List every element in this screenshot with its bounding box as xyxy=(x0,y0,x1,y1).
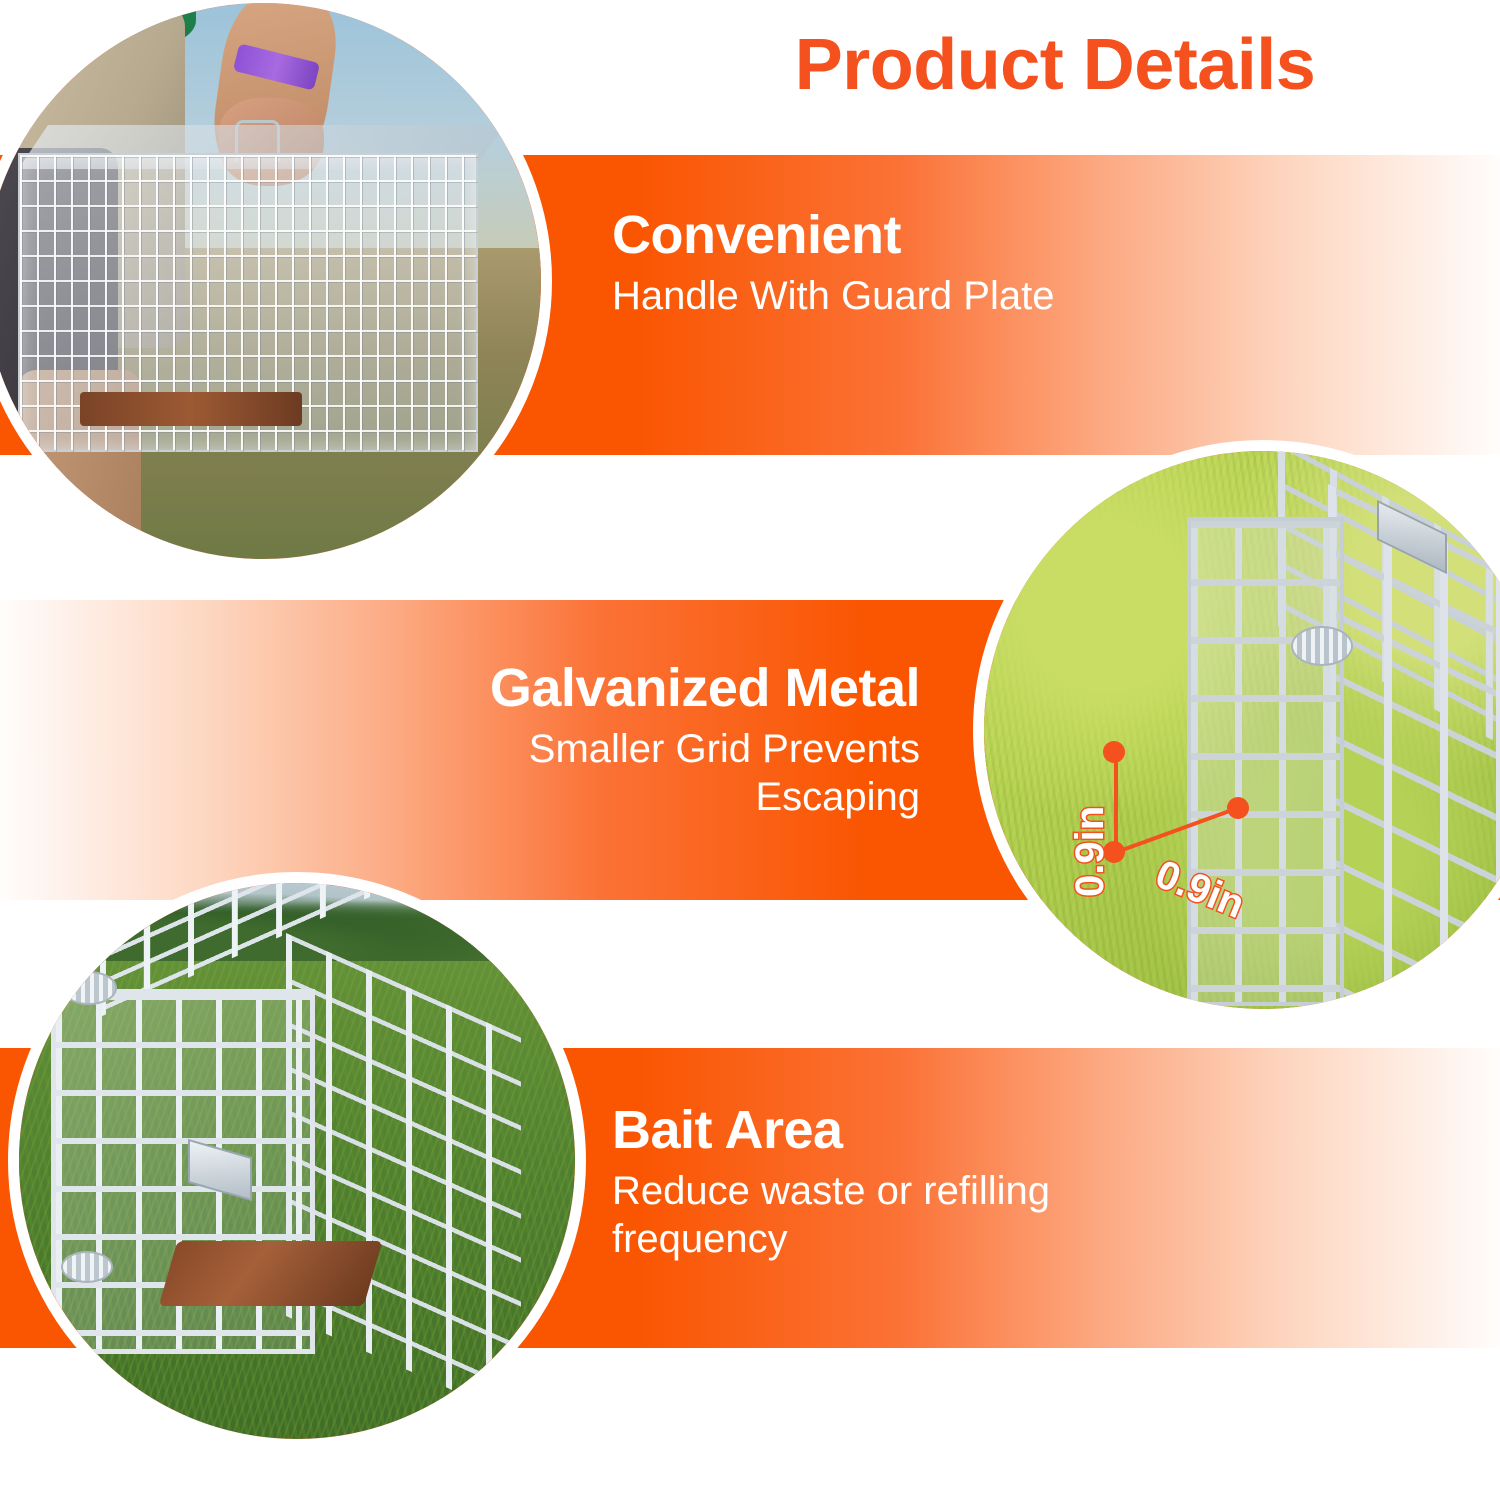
mesh-cage xyxy=(1163,462,1500,1009)
feature-subtitle-galvanized-line2: Escaping xyxy=(300,774,920,821)
feature-subtitle-bait-line1: Reduce waste or refilling xyxy=(612,1168,1212,1215)
product-photo-mesh-detail xyxy=(973,440,1500,1020)
dimension-line-vertical xyxy=(1114,750,1118,853)
dimension-label-vertical: 0.9in xyxy=(1068,806,1113,897)
feature-subtitle-convenient: Handle With Guard Plate xyxy=(612,273,1232,320)
cage-spring-top xyxy=(61,971,117,1005)
mesh-side-panel xyxy=(1328,484,1500,1009)
feature-heading-convenient: Convenient xyxy=(612,205,1232,265)
mesh-spring xyxy=(1291,626,1353,666)
bait-tray xyxy=(80,392,302,425)
feature-text-block-3: Bait Area Reduce waste or refilling freq… xyxy=(612,1100,1212,1263)
feature-heading-galvanized-metal: Galvanized Metal xyxy=(300,658,920,718)
feature-text-block-1: Convenient Handle With Guard Plate xyxy=(612,205,1232,321)
mesh-horizontal-wires xyxy=(1191,521,1340,1002)
photo-handle-scene xyxy=(0,3,541,559)
mesh-front-panel xyxy=(1187,517,1344,1006)
photo-mesh-scene xyxy=(984,451,1500,1009)
bait-tray xyxy=(159,1241,383,1306)
photo-bait-scene xyxy=(19,883,575,1439)
page-title: Product Details xyxy=(640,28,1470,104)
product-photo-bait-area xyxy=(8,872,586,1450)
bait-cage-side-panel xyxy=(286,933,521,1421)
cage-spring-bottom xyxy=(61,1251,113,1283)
feature-text-block-2: Galvanized Metal Smaller Grid Prevents E… xyxy=(300,658,920,821)
feature-heading-bait-area: Bait Area xyxy=(612,1100,1212,1160)
feature-subtitle-galvanized-line1: Smaller Grid Prevents xyxy=(300,726,920,773)
feature-subtitle-bait-line2: frequency xyxy=(612,1216,1212,1263)
bait-cage xyxy=(41,905,530,1372)
product-photo-handle xyxy=(0,0,552,570)
